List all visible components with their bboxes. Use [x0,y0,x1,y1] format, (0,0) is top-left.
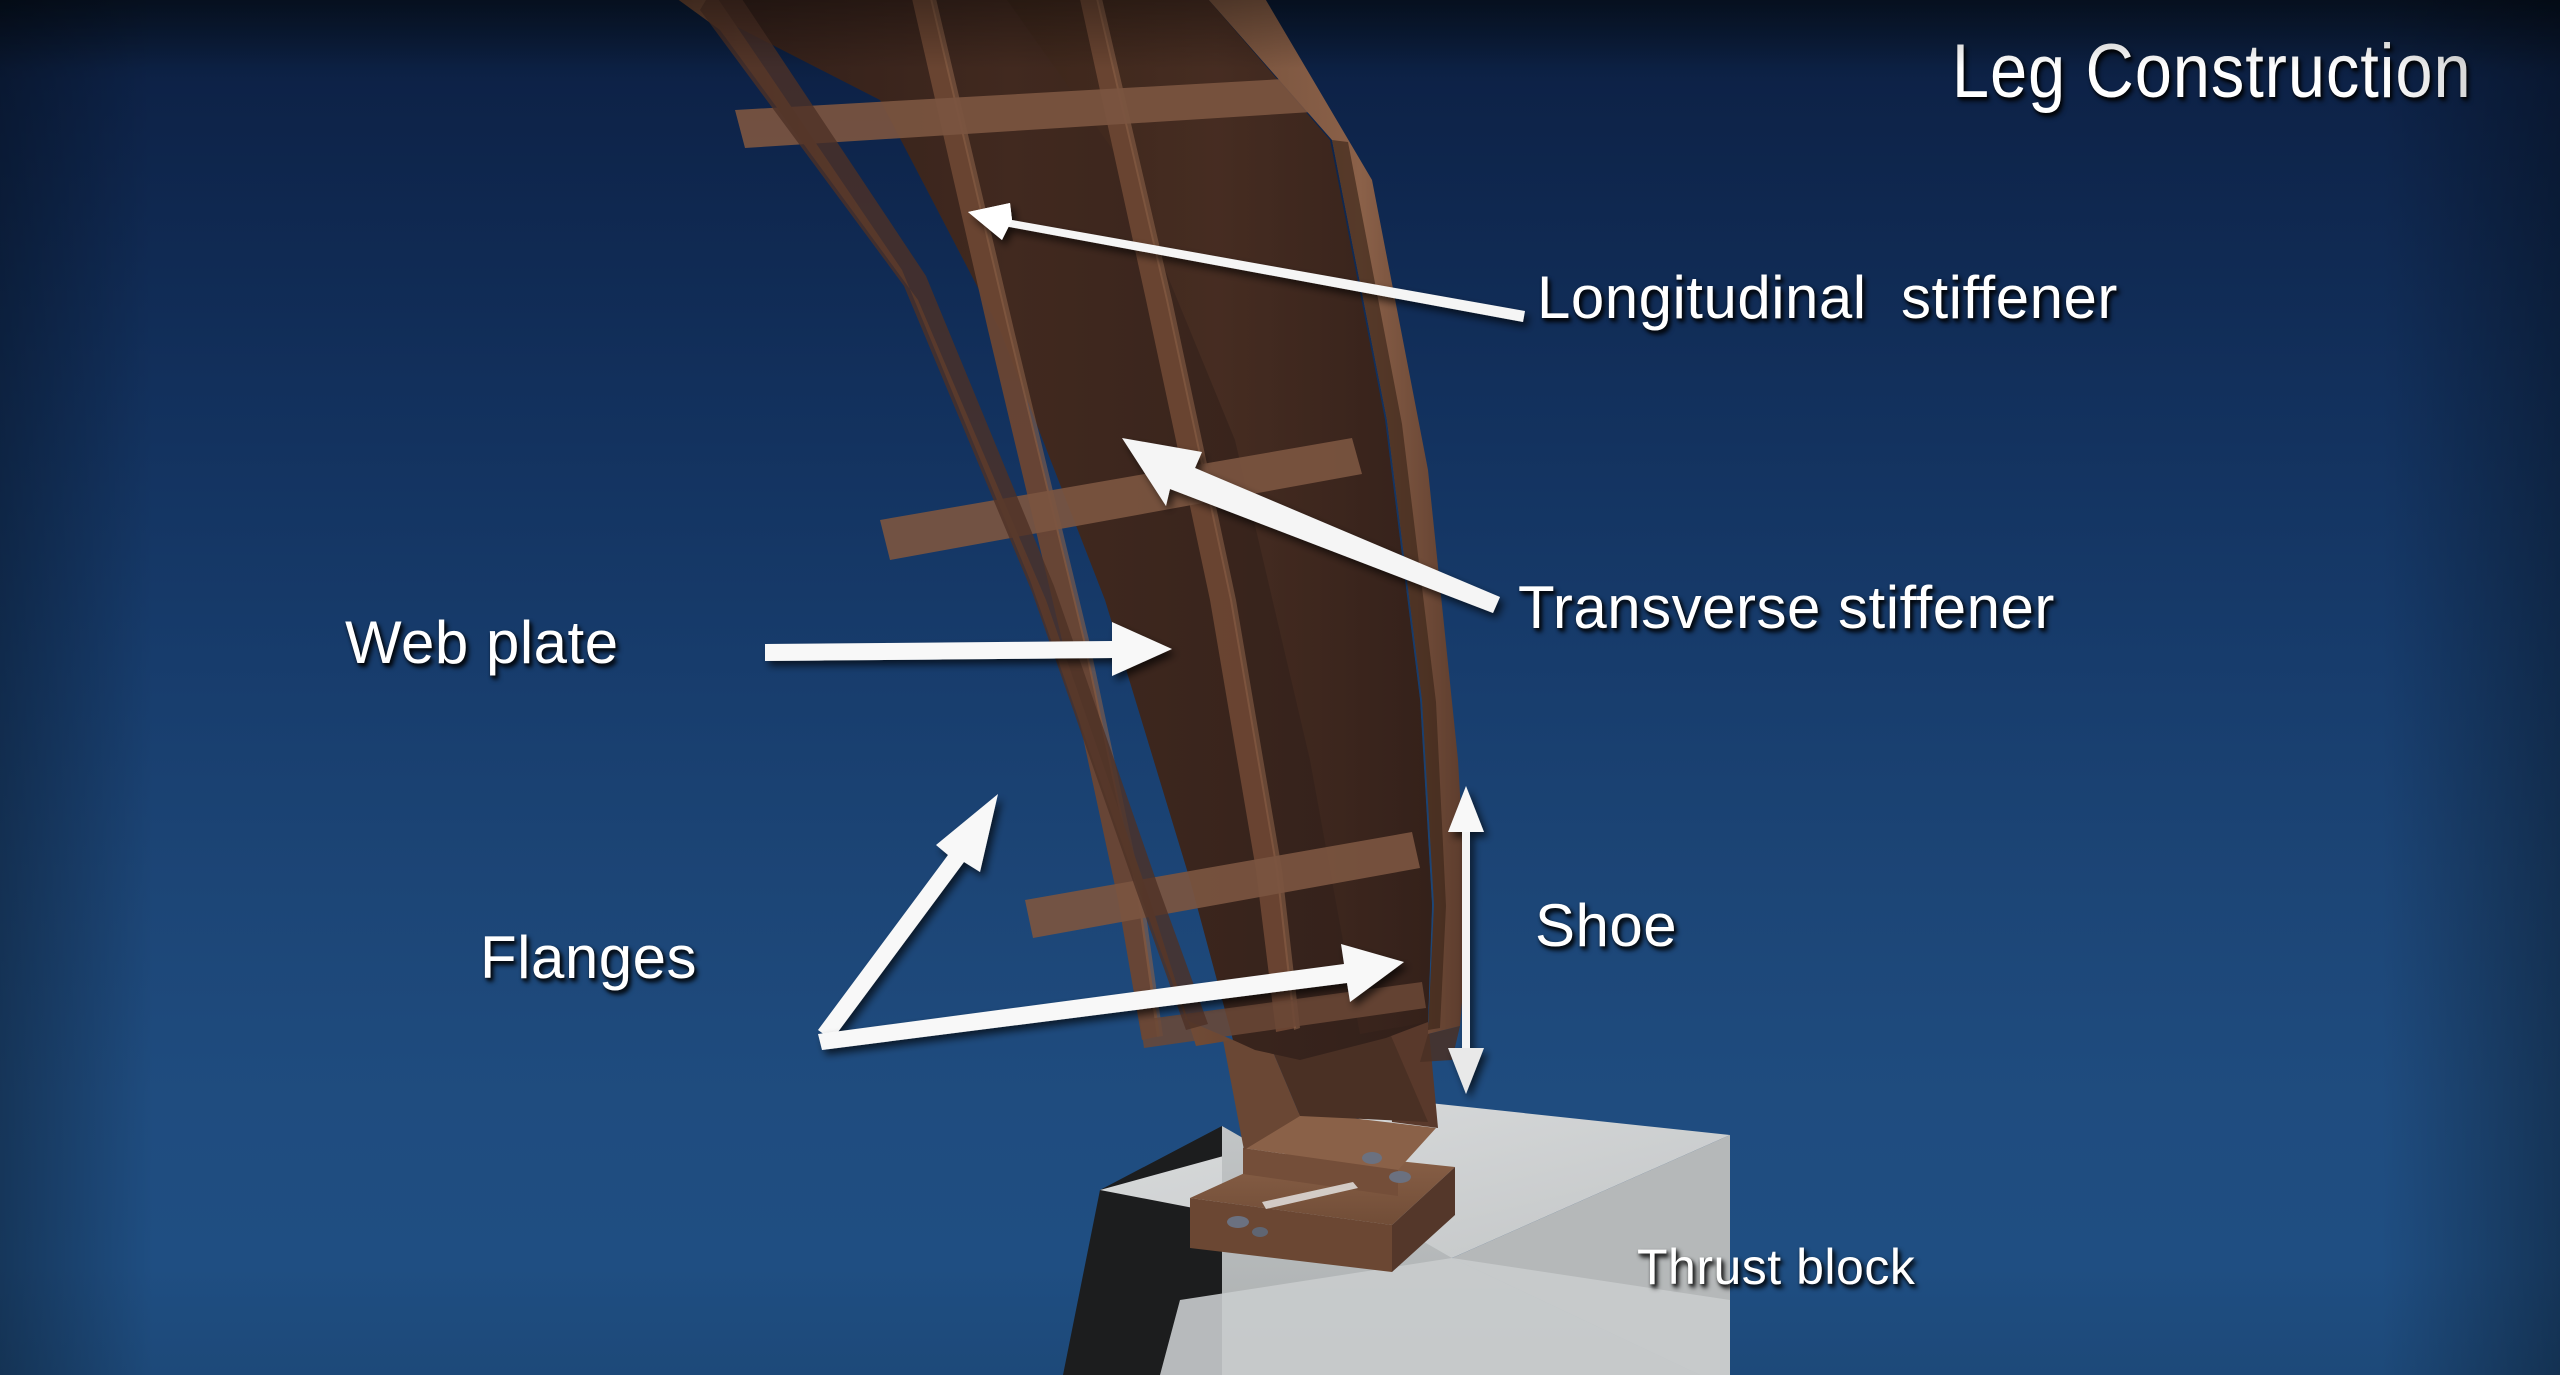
slide-canvas: Leg Construction Longitudinal stiffener … [0,0,2560,1375]
arrow-shoe-dimension [1448,786,1484,1094]
arrow-flange-lower [818,944,1404,1050]
annotation-overlay [0,0,2560,1375]
label-transverse-stiffener: Transverse stiffener [1518,578,2055,638]
arrow-longitudinal-stiffener [968,203,1525,322]
label-flanges: Flanges [480,928,697,988]
label-longitudinal-stiffener: Longitudinal stiffener [1537,268,2118,328]
label-thrust-block: Thrust block [1637,1242,1915,1292]
label-shoe: Shoe [1535,896,1677,956]
arrow-web-plate [765,622,1172,676]
page-title: Leg Construction [1952,34,2472,110]
arrow-transverse-stiffener [1122,438,1500,613]
arrow-flange-upper [818,794,998,1040]
label-web-plate: Web plate [345,613,619,673]
